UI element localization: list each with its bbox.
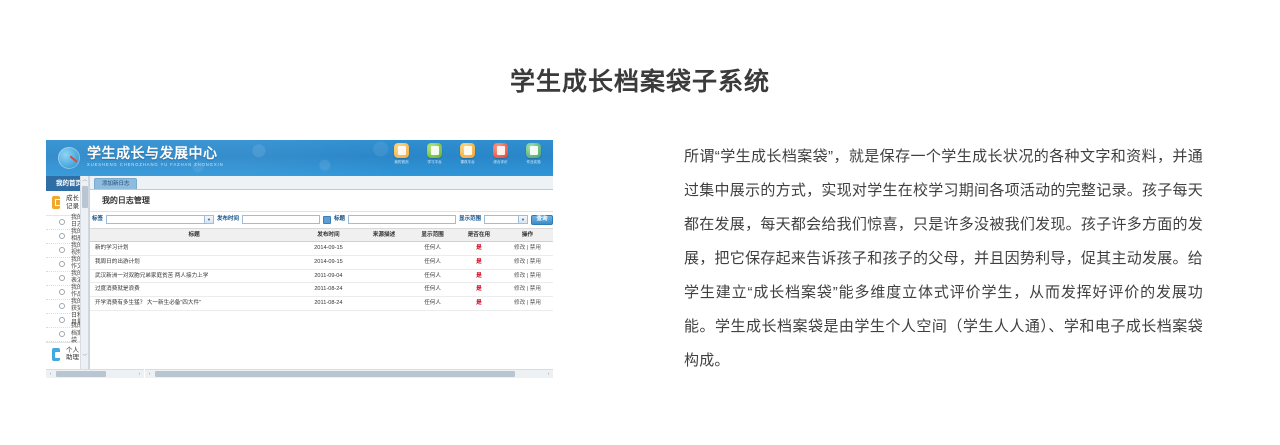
scroll-right-icon[interactable]: › [544,370,553,378]
table-row[interactable]: 我周日的出游计划 2014-09-15 任何人 是 修改 | 禁用 [90,256,553,270]
cell-active: 是 [456,283,502,297]
scrollbar-thumb[interactable] [82,186,88,208]
col-source: 来源描述 [359,228,410,242]
content-horizontal-scrollbar[interactable]: ‹ › [145,369,553,378]
homework-lab-icon [526,143,541,158]
nav-label-curriculum-platform: 课改平台 [460,160,474,164]
bullet-icon [59,303,65,309]
filter-label-title: 标题 [334,216,345,223]
col-date: 发布时间 [298,228,358,242]
cell-source [359,269,410,283]
cell-date: 2011-09-04 [298,269,358,283]
nav-label-home: 我的首页 [394,160,408,164]
col-ops: 操作 [502,228,553,242]
query-button[interactable]: 查询 [531,215,553,225]
cell-ops[interactable]: 修改 | 禁用 [502,269,553,283]
pencil-square-icon [52,196,60,209]
cell-scope: 任何人 [409,283,455,297]
cell-title: 新的学习计划 [90,242,298,256]
bullet-icon [59,247,65,253]
table-row[interactable]: 新的学习计划 2014-09-15 任何人 是 修改 | 禁用 [90,242,553,256]
cell-scope: 任何人 [409,256,455,270]
cell-source [359,242,410,256]
journal-table: 标题 发布时间 来源描述 显示范围 是否在用 操作 新的学习计划 2014-09… [90,228,553,311]
nav-label-homework-lab: 作业实验 [526,160,540,164]
tag-select[interactable]: ▼ [106,215,214,224]
publish-date-input[interactable] [242,215,320,224]
filter-bar: 标签 ▼ 发布时间 标题 显示范围 ▼ 查询 [90,212,553,228]
cell-active: 是 [456,242,502,256]
cell-ops[interactable]: 修改 | 禁用 [502,297,553,311]
filter-label-publish-date: 发布时间 [217,216,239,223]
bullet-icon [59,289,65,295]
tabbar: 添加新日志 [90,176,553,190]
chevron-down-icon: ▼ [518,216,527,223]
cell-source [359,283,410,297]
nav-item-homework-lab[interactable]: 作业实验 [520,143,547,164]
cell-ops[interactable]: 修改 | 禁用 [502,242,553,256]
title-search-input[interactable] [348,215,456,224]
scroll-left-icon[interactable]: ‹ [46,370,55,378]
study-platform-icon [427,143,442,158]
sidebar: 我的首页 成长记录 我的日志 我的相册 我的视频 我的作文 [46,176,89,378]
system-screenshot: 学生成长与发展中心 XUESHENG CHENGZHANG YU FAZHAN … [46,140,553,378]
scroll-right-icon[interactable]: › [135,370,144,378]
app-header: 学生成长与发展中心 XUESHENG CHENGZHANG YU FAZHAN … [46,140,553,176]
assistant-icon [52,348,60,361]
cell-date: 2014-09-15 [298,242,358,256]
table-header-row: 标题 发布时间 来源描述 显示范围 是否在用 操作 [90,228,553,242]
cell-ops[interactable]: 修改 | 禁用 [502,256,553,270]
bullet-icon [59,331,65,337]
cell-scope: 任何人 [409,242,455,256]
curriculum-platform-icon [460,143,475,158]
cell-title: 开学消费有多生猛？ 大一新生必备“四大件” [90,297,298,311]
bullet-icon [59,261,65,267]
col-scope: 显示范围 [409,228,455,242]
scroll-left-icon[interactable]: ‹ [145,370,154,378]
cell-date: 2011-08-24 [298,297,358,311]
cell-date: 2014-09-15 [298,256,358,270]
nav-label-evaluation: 综合评价 [493,160,507,164]
scroll-down-icon[interactable]: ﹀ [81,353,89,362]
bullet-icon [59,233,65,239]
calendar-icon[interactable] [323,216,331,224]
cell-scope: 任何人 [409,269,455,283]
article-body: 所谓“学生成长档案袋”，就是保存一个学生成长状况的各种文字和资料，并通过集中展示… [684,140,1203,378]
tab-add-new-journal[interactable]: 添加新日志 [94,178,138,189]
scrollbar-thumb[interactable] [155,371,515,377]
evaluation-icon [493,143,508,158]
header-nav: 我的首页 学习平台 课改平台 综合评价 作业实验 [388,143,547,164]
table-row[interactable]: 开学消费有多生猛？ 大一新生必备“四大件” 2011-08-24 任何人 是 修… [90,297,553,311]
scope-select[interactable]: ▼ [484,215,528,224]
col-active: 是否在用 [456,228,502,242]
chevron-down-icon: ▼ [204,216,213,223]
table-row[interactable]: 武汉新洲一对双胞兄弟家庭贫苦 两人接力上学 2011-09-04 任何人 是 修… [90,269,553,283]
sidebar-horizontal-scrollbar[interactable]: ‹ › [46,369,144,378]
panel-title: 我的日志管理 [90,190,553,212]
cell-date: 2011-08-24 [298,283,358,297]
cell-active: 是 [456,297,502,311]
content-area: 添加新日志 我的日志管理 标签 ▼ 发布时间 标题 显示范围 ▼ 查询 [89,176,553,378]
cell-title: 过度消费就是浪费 [90,283,298,297]
brand-block: 学生成长与发展中心 XUESHENG CHENGZHANG YU FAZHAN … [87,145,224,167]
brand-title-cn: 学生成长与发展中心 [87,145,224,161]
filter-label-tag: 标签 [92,216,103,223]
cell-scope: 任何人 [409,297,455,311]
bullet-icon [59,275,65,281]
scrollbar-thumb[interactable] [56,371,106,377]
nav-item-study-platform[interactable]: 学习平台 [421,143,448,164]
sidebar-vertical-scrollbar[interactable]: ︿ ﹀ [80,176,88,378]
home-icon [394,143,409,158]
cell-title: 我周日的出游计划 [90,256,298,270]
scroll-up-icon[interactable]: ︿ [81,176,89,185]
filter-label-scope: 显示范围 [459,216,481,223]
nav-label-study-platform: 学习平台 [427,160,441,164]
cell-active: 是 [456,269,502,283]
cell-title: 武汉新洲一对双胞兄弟家庭贫苦 两人接力上学 [90,269,298,283]
brand-title-en: XUESHENG CHENGZHANG YU FAZHAN ZHONGXIN [87,162,224,167]
table-row[interactable]: 过度消费就是浪费 2011-08-24 任何人 是 修改 | 禁用 [90,283,553,297]
bullet-icon [59,219,65,225]
nav-item-evaluation[interactable]: 综合评价 [487,143,514,164]
cell-active: 是 [456,256,502,270]
cell-source [359,256,410,270]
col-title: 标题 [90,228,298,242]
bullet-icon [59,317,65,323]
cell-source [359,297,410,311]
nav-item-curriculum-platform[interactable]: 课改平台 [454,143,481,164]
cell-ops[interactable]: 修改 | 禁用 [502,283,553,297]
page-title: 学生成长档案袋子系统 [0,62,1280,98]
magnifier-globe-logo-icon [58,147,80,169]
app-body: 我的首页 成长记录 我的日志 我的相册 我的视频 我的作文 [46,176,553,378]
nav-item-home[interactable]: 我的首页 [388,143,415,164]
